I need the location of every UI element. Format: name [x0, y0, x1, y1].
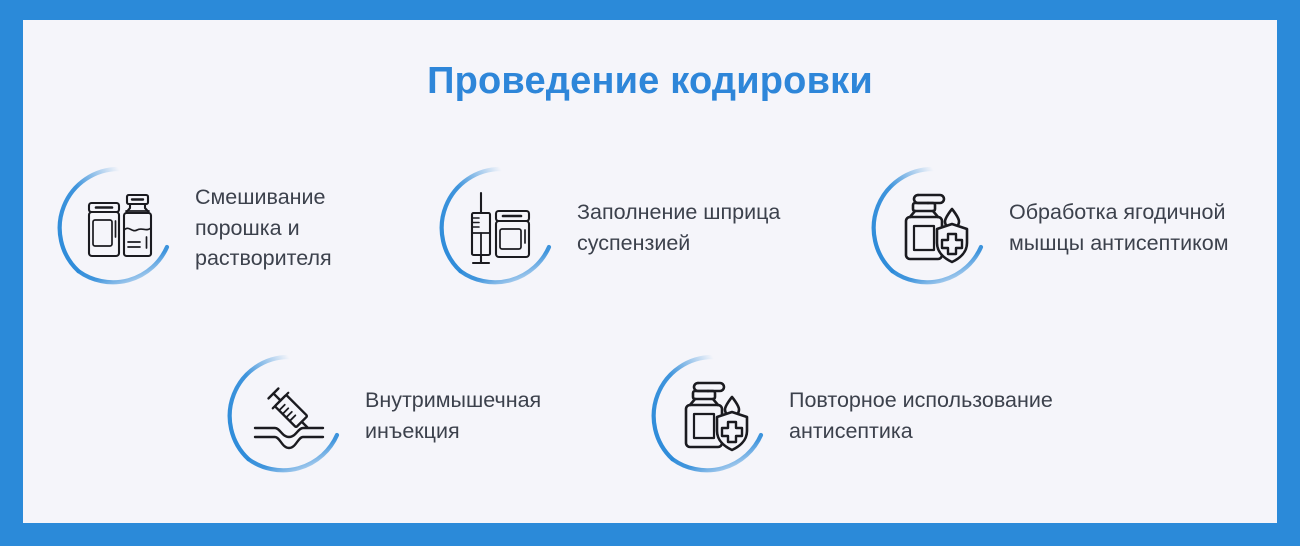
step-item-3[interactable]: Обработка ягодичной мышцы антисептиком [871, 166, 1271, 290]
syringe-and-vial-icon [439, 166, 563, 290]
step-2-label: Заполнение шприца суспензией [577, 197, 827, 258]
step-item-2[interactable]: Заполнение шприца суспензией [439, 166, 827, 290]
intramuscular-injection-icon [227, 354, 351, 478]
step-item-4[interactable]: Внутримышечная инъекция [227, 354, 597, 478]
step-5-label: Повторное использование антисептика [789, 385, 1119, 446]
two-vials-icon [57, 166, 181, 290]
step-4-circle [227, 354, 351, 478]
step-3-circle [871, 166, 995, 290]
antiseptic-dispenser-shield-icon [871, 166, 995, 290]
antiseptic-dispenser-shield-icon [651, 354, 775, 478]
step-5-circle [651, 354, 775, 478]
step-3-label: Обработка ягодичной мышцы антисептиком [1009, 197, 1271, 258]
content-panel: Проведение кодировки [23, 20, 1277, 523]
step-item-1[interactable]: Смешивание порошка и растворителя [57, 166, 385, 290]
step-4-label: Внутримышечная инъекция [365, 385, 597, 446]
step-2-circle [439, 166, 563, 290]
step-item-5[interactable]: Повторное использование антисептика [651, 354, 1119, 478]
page-title: Проведение кодировки [23, 60, 1277, 103]
step-1-label: Смешивание порошка и растворителя [195, 182, 385, 274]
step-1-circle [57, 166, 181, 290]
infographic-root: Проведение кодировки [0, 0, 1300, 546]
